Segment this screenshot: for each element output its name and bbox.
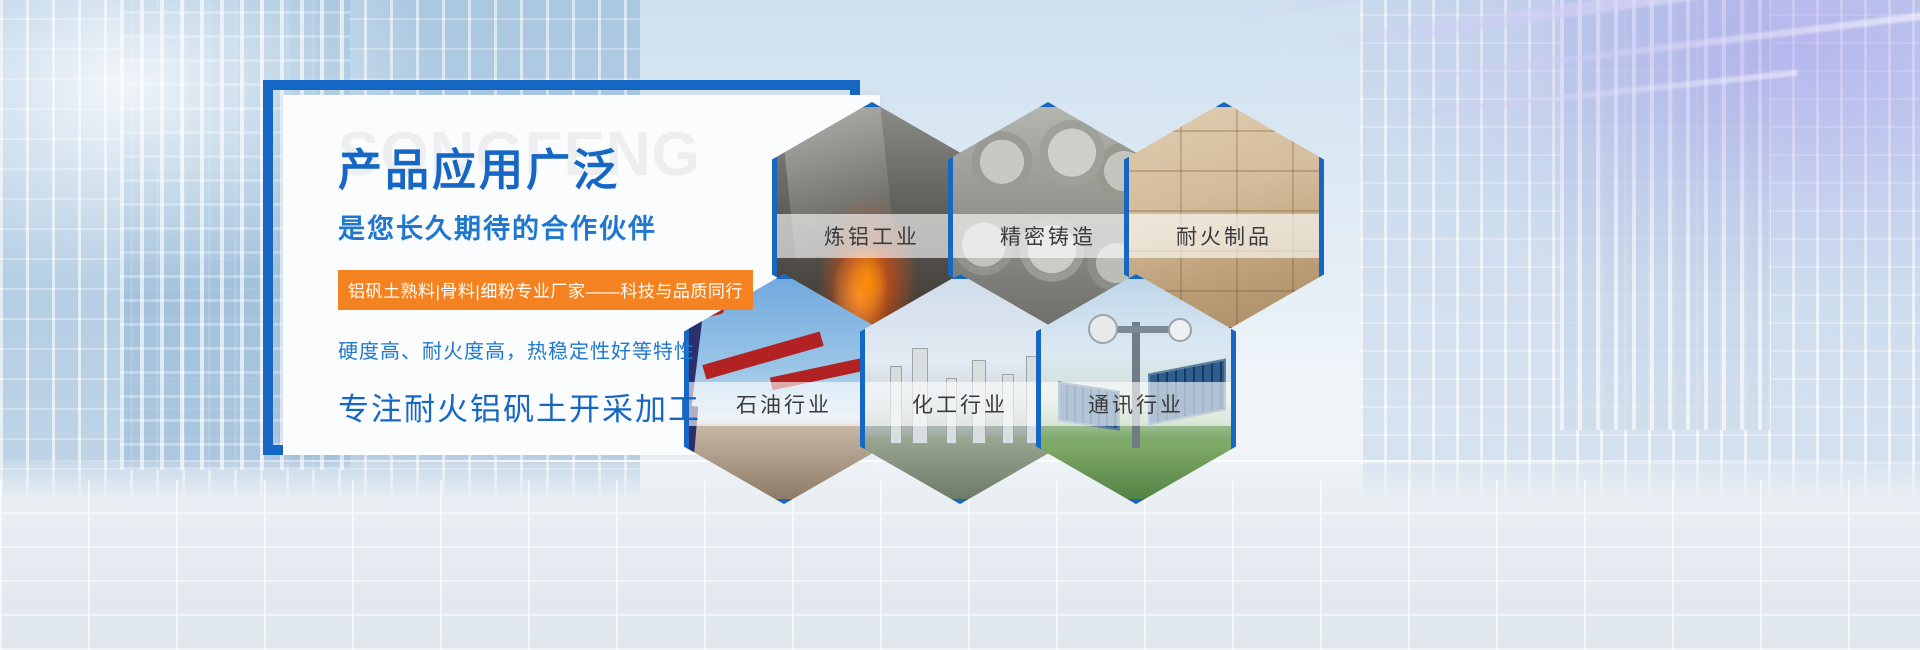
- promotional-banner: SONGFENG 产品应用广泛 是您长久期待的合作伙伴 铝矾土熟料|骨料|细粉专…: [0, 0, 1920, 650]
- industry-hexagon-grid: 炼铝工业 精密铸造 耐火制品 石油行业: [690, 60, 1300, 590]
- feature-description-text: 硬度高、耐火度高，热稳定性好等特性: [338, 335, 880, 364]
- background-purple-glow: [1360, 0, 1920, 300]
- tagline-text: 专注耐火铝矾土开采加工: [338, 384, 880, 429]
- headline-text: 产品应用广泛: [338, 147, 880, 195]
- subheadline-text: 是您长久期待的合作伙伴: [338, 207, 880, 246]
- orange-highlight-bar: 铝矾土熟料|骨料|细粉专业厂家——科技与品质同行: [338, 270, 753, 310]
